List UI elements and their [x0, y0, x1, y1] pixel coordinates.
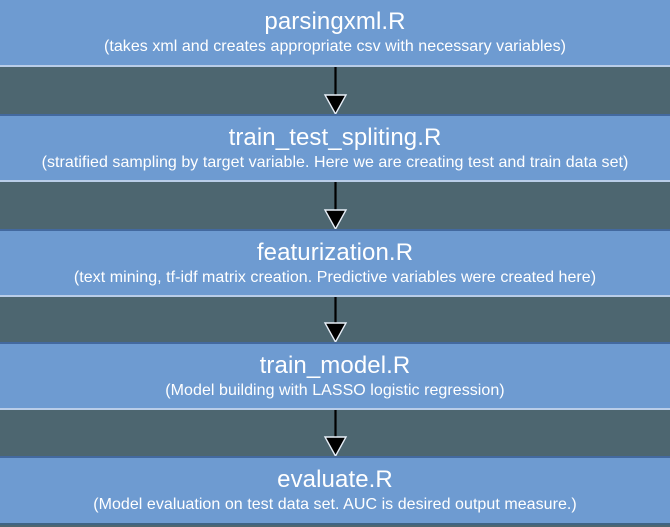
- flow-node-parsingxml[interactable]: parsingxml.R (takes xml and creates appr…: [0, 0, 670, 67]
- flow-node-title: train_test_spliting.R: [229, 124, 442, 152]
- flow-node-subtitle: (Model building with LASSO logistic regr…: [165, 380, 504, 401]
- flowchart-canvas: parsingxml.R (takes xml and creates appr…: [0, 0, 670, 527]
- flow-arrow-train-model-to-evaluate: [0, 410, 670, 456]
- flow-node-evaluate[interactable]: evaluate.R (Model evaluation on test dat…: [0, 456, 670, 525]
- flow-arrow-parsingxml-to-train-test-spliting: [0, 67, 670, 114]
- flow-node-train-test-spliting[interactable]: train_test_spliting.R (stratified sampli…: [0, 114, 670, 182]
- flow-node-title: featurization.R: [257, 239, 413, 267]
- flow-arrow-featurization-to-train-model: [0, 297, 670, 342]
- flow-node-subtitle: (takes xml and creates appropriate csv w…: [104, 36, 566, 57]
- flow-node-title: train_model.R: [260, 352, 411, 380]
- flow-node-subtitle: (text mining, tf-idf matrix creation. Pr…: [74, 267, 596, 288]
- flow-node-title: evaluate.R: [277, 466, 393, 494]
- flow-node-train-model[interactable]: train_model.R (Model building with LASSO…: [0, 342, 670, 410]
- flow-node-title: parsingxml.R: [264, 8, 405, 36]
- flow-node-featurization[interactable]: featurization.R (text mining, tf-idf mat…: [0, 229, 670, 297]
- flow-node-subtitle: (stratified sampling by target variable.…: [0, 152, 670, 173]
- flow-arrow-train-test-spliting-to-featurization: [0, 182, 670, 229]
- flow-node-subtitle: (Model evaluation on test data set. AUC …: [93, 494, 577, 515]
